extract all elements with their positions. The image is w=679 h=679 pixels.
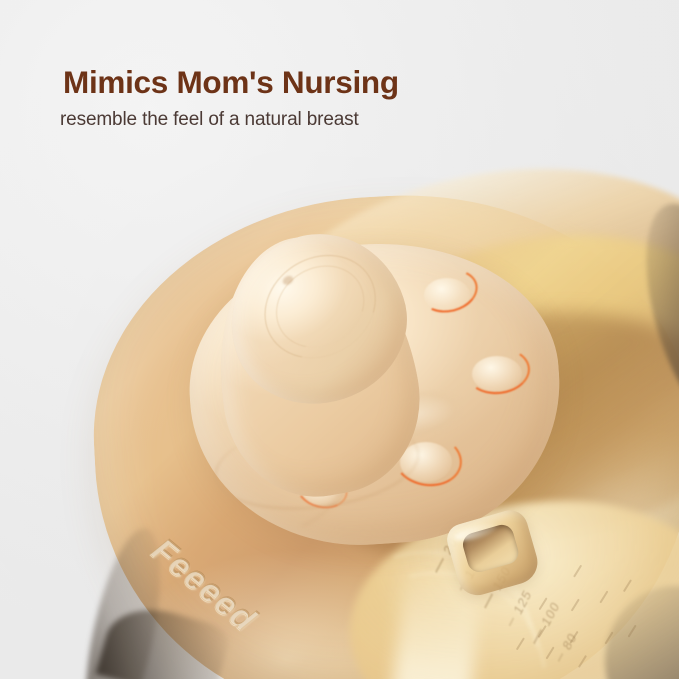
hatch-tick <box>516 637 525 650</box>
scale-label: 100 <box>538 598 562 629</box>
scale-tick <box>533 629 542 644</box>
scale-tick <box>509 617 515 626</box>
scale-label: 80 <box>559 629 579 652</box>
scale-label: 125 <box>510 586 534 617</box>
page-subtitle: resemble the feel of a natural breast <box>60 109 623 132</box>
scale-tick <box>435 558 444 573</box>
page-title: Mimics Mom's Nursing <box>63 66 623 99</box>
scale-tick <box>484 593 493 608</box>
scale-tick <box>558 653 564 662</box>
header-text-block: Mimics Mom's Nursing resemble the feel o… <box>63 66 623 132</box>
